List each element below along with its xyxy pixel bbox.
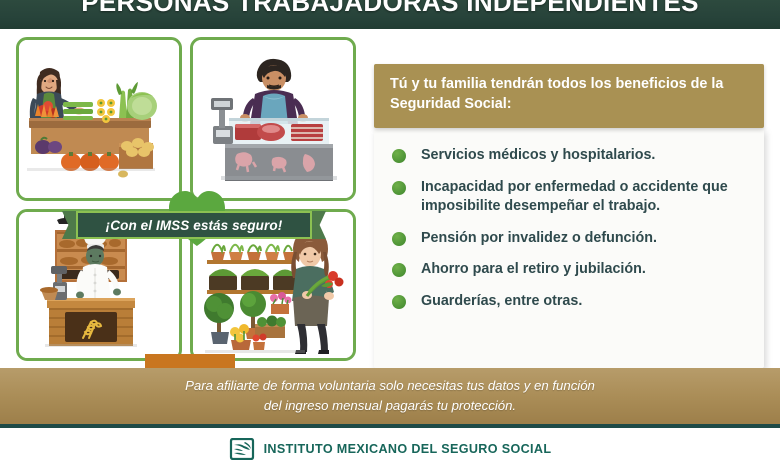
photo-card-florist — [190, 209, 356, 361]
bullet-dot-icon — [392, 295, 406, 309]
footer-orange-accent — [145, 354, 235, 368]
photo-card-butcher — [190, 37, 356, 201]
benefit-text: Pensión por invalidez o defunción. — [421, 229, 657, 248]
imss-logo: INSTITUTO MEXICANO DEL SEGURO SOCIAL — [229, 438, 552, 460]
benefit-text: Guarderías, entre otras. — [421, 292, 582, 311]
benefit-text: Ahorro para el retiro y jubilación. — [421, 260, 646, 279]
photo-card-baker — [16, 209, 182, 361]
poster-body: ¡Con el IMSS estás seguro! Tú y tu famil… — [0, 29, 780, 368]
bullet-dot-icon — [392, 263, 406, 277]
poster-root: PERSONAS TRABAJADORAS INDEPENDIENTES — [0, 0, 780, 470]
benefit-item: Guarderías, entre otras. — [392, 292, 746, 311]
benefit-item: Ahorro para el retiro y jubilación. — [392, 260, 746, 279]
vegetable-seller-illustration — [19, 40, 179, 198]
bullet-dot-icon — [392, 149, 406, 163]
photo-card-vegetable-seller — [16, 37, 182, 201]
benefits-header: Tú y tu familia tendrán todos los benefi… — [374, 64, 764, 128]
footer-band: Para afiliarte de forma voluntaria solo … — [0, 368, 780, 424]
imss-eagle-icon — [229, 438, 255, 460]
benefit-text: Incapacidad por enfermedad o accidente q… — [421, 178, 746, 216]
benefit-item: Servicios médicos y hospitalarios. — [392, 146, 746, 165]
logo-strip: INSTITUTO MEXICANO DEL SEGURO SOCIAL — [0, 428, 780, 470]
bullet-dot-icon — [392, 232, 406, 246]
benefits-card: Servicios médicos y hospitalarios. Incap… — [374, 129, 764, 368]
benefit-item: Pensión por invalidez o defunción. — [392, 229, 746, 248]
poster-title-bar: PERSONAS TRABAJADORAS INDEPENDIENTES — [0, 0, 780, 29]
benefit-text: Servicios médicos y hospitalarios. — [421, 146, 655, 165]
page-title: PERSONAS TRABAJADORAS INDEPENDIENTES — [0, 0, 780, 18]
butcher-illustration — [193, 40, 353, 198]
logo-label: INSTITUTO MEXICANO DEL SEGURO SOCIAL — [264, 442, 552, 456]
florist-illustration — [193, 212, 353, 358]
footer-note: Para afiliarte de forma voluntaria solo … — [185, 376, 595, 416]
baker-illustration — [19, 212, 179, 358]
benefit-item: Incapacidad por enfermedad o accidente q… — [392, 178, 746, 216]
bullet-dot-icon — [392, 181, 406, 195]
